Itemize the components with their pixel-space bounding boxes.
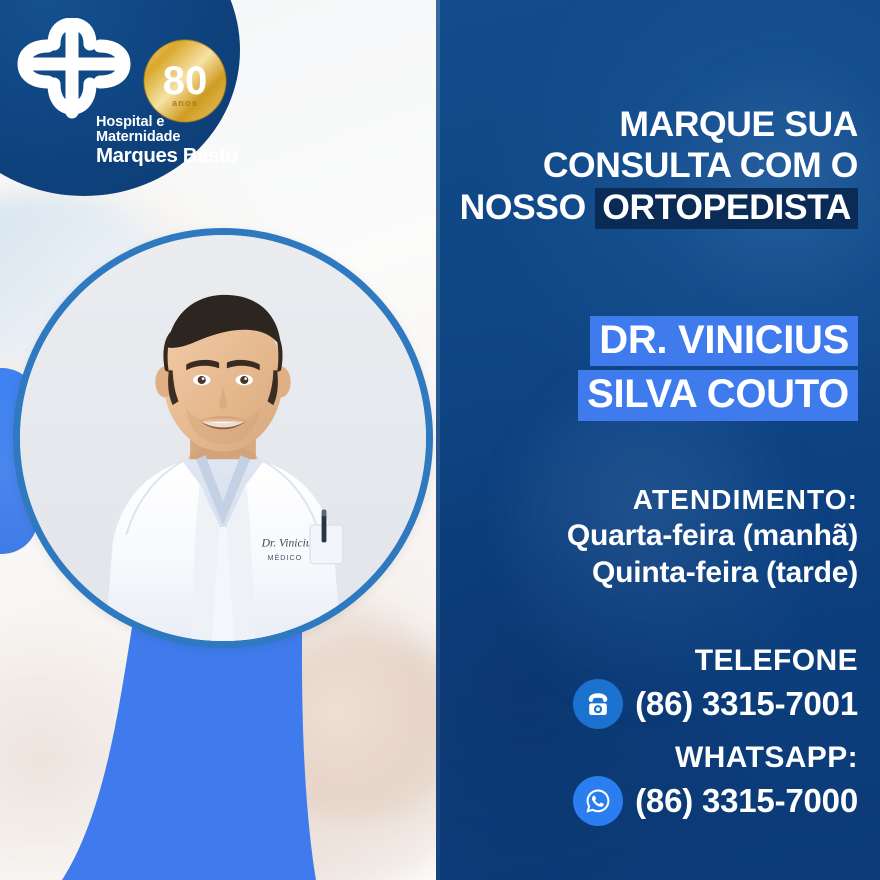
schedule-block: ATENDIMENTO: Quarta-feira (manhã) Quinta… <box>446 484 858 590</box>
whatsapp-icon[interactable] <box>573 776 623 826</box>
doctor-photo-circle: Dr. Vinicius S. MÉDICO <box>13 228 433 648</box>
panel-left-edge <box>436 0 440 880</box>
brand-name-line1: Hospital e Maternidade <box>96 115 240 145</box>
svg-text:MÉDICO: MÉDICO <box>267 553 302 562</box>
80-years-badge-icon: 80 anos <box>142 38 228 124</box>
contact-block: TELEFONE (86) 3315-7001 WHATSAPP: <box>446 644 858 826</box>
phone-label: TELEFONE <box>446 644 858 678</box>
headline-line-2: CONSULTA COM O <box>446 145 858 186</box>
schedule-label: ATENDIMENTO: <box>446 484 858 516</box>
whatsapp-label: WHATSAPP: <box>446 741 858 775</box>
doctor-name-line-2: SILVA COUTO <box>578 370 858 420</box>
doctor-name: DR. VINICIUS SILVA COUTO <box>446 316 858 421</box>
headline: MARQUE SUA CONSULTA COM O NOSSO ORTOPEDI… <box>446 104 858 229</box>
phone-row[interactable]: (86) 3315-7001 <box>446 679 858 729</box>
whatsapp-number[interactable]: (86) 3315-7000 <box>635 782 858 820</box>
svg-text:80: 80 <box>163 59 208 103</box>
schedule-day-2: Quinta-feira (tarde) <box>446 556 858 590</box>
background-blur-shape-hands <box>255 640 452 820</box>
whatsapp-row[interactable]: (86) 3315-7000 <box>446 776 858 826</box>
phone-number[interactable]: (86) 3315-7001 <box>635 685 858 723</box>
interlocking-cross-logo-icon <box>14 18 134 122</box>
appointment-poster: Dr. Vinicius S. MÉDICO <box>0 0 880 880</box>
headline-line-3-plain: NOSSO <box>460 187 596 227</box>
doctor-name-line-1: DR. VINICIUS <box>590 316 858 366</box>
headline-line-1: MARQUE SUA <box>446 104 858 145</box>
brand-name-line2: Marques Basto <box>96 146 240 167</box>
doctor-portrait-illustration: Dr. Vinicius S. MÉDICO <box>20 235 426 641</box>
headline-line-3: NOSSO ORTOPEDISTA <box>446 187 858 230</box>
brand-name: Hospital e Maternidade Marques Basto <box>96 115 240 166</box>
doctor-name-row-2: SILVA COUTO <box>446 370 858 420</box>
doctor-name-row-1: DR. VINICIUS <box>446 316 858 366</box>
headline-highlight-ortopedista: ORTOPEDISTA <box>595 188 858 230</box>
brand-logo: 80 anos Hospital e Maternidade Marques B… <box>14 18 240 148</box>
schedule-day-1: Quarta-feira (manhã) <box>446 519 858 553</box>
telephone-icon[interactable] <box>573 679 623 729</box>
svg-text:anos: anos <box>172 98 198 108</box>
